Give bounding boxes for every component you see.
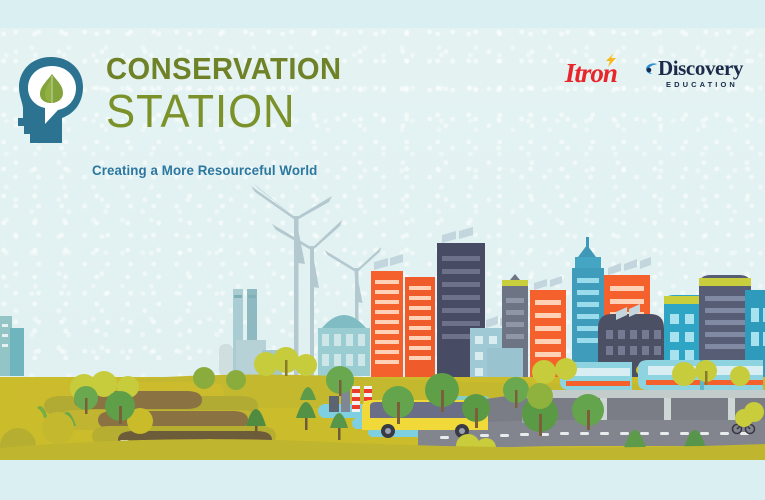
solar-panel	[534, 276, 562, 290]
education-wordmark: EDUCATION	[658, 80, 743, 89]
head-leaf-icon	[18, 56, 84, 144]
skyline-background-left	[0, 316, 24, 376]
banner-root: CONSERVATION STATION Creating a More Res…	[0, 0, 765, 500]
partner-logos: Itron Discovery EDUCATION	[565, 55, 743, 91]
itron-logo[interactable]: Itron	[565, 60, 617, 87]
title-conservation: CONSERVATION	[106, 52, 332, 86]
discovery-wordmark: Discovery	[658, 58, 743, 79]
title-station: STATION	[106, 86, 334, 136]
tagline: Creating a More Resourceful World	[92, 162, 317, 178]
lightning-bolt-icon	[605, 53, 616, 67]
skyline-building-orange	[405, 277, 435, 381]
skyline-building-orange	[371, 254, 403, 381]
wordmark: CONSERVATION STATION	[106, 52, 346, 136]
solar-panel	[374, 254, 403, 270]
swoosh-icon	[645, 62, 658, 74]
discovery-education-logo[interactable]: Discovery EDUCATION	[645, 58, 743, 89]
solar-panel	[608, 257, 651, 275]
skyline	[318, 227, 765, 381]
illustration-alt-text: Illustrated sustainable city skyline wit…	[0, 0, 1, 1]
skyline-building-gray	[487, 348, 523, 381]
solar-panel	[442, 227, 473, 243]
